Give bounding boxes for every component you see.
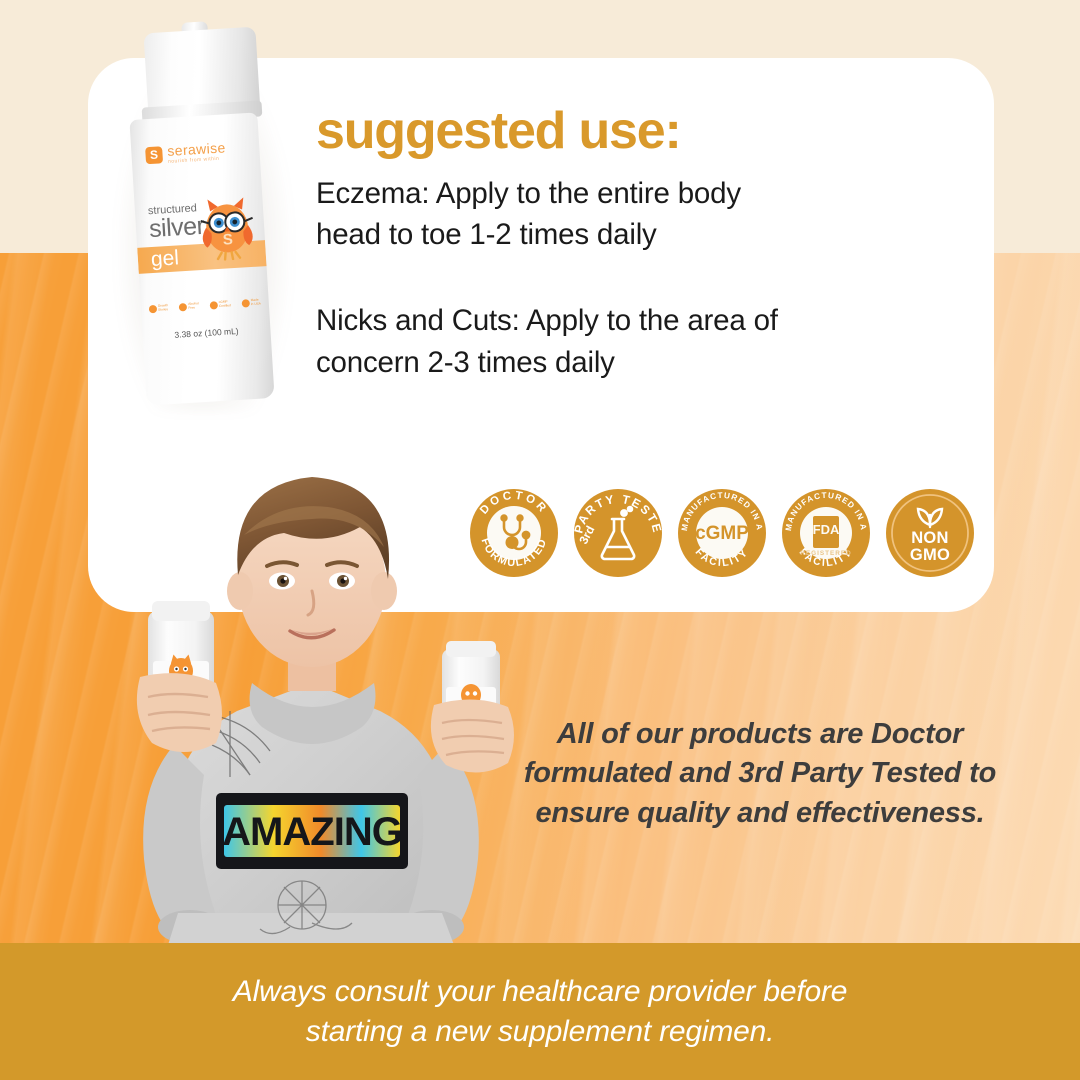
bottle-net-quantity: 3.38 oz (100 mL) (142, 324, 270, 342)
badge-dot-icon (242, 299, 250, 307)
non-gmo-line1: NON (911, 529, 949, 547)
fda-registered-label: REGISTERED (800, 550, 852, 557)
badge-dot-icon (210, 301, 218, 309)
quality-line: ensure quality and effectiveness. (536, 797, 985, 829)
usage-line: head to toe 1-2 times daily (316, 218, 657, 251)
owl-mascot-icon: S (196, 193, 258, 262)
quality-statement: All of our products are Doctor formulate… (500, 715, 1020, 833)
disclaimer-line: starting a new supplement regimen. (306, 1015, 774, 1048)
svg-text:S: S (222, 231, 233, 249)
usage-line: Eczema: Apply to the entire body (316, 177, 741, 210)
page-title: suggested use: (316, 104, 936, 159)
bottle-product-gel: gel (150, 246, 179, 272)
non-gmo-line2: GMO (910, 546, 950, 564)
badge-fda-registered-facility: MANUFACTURED IN A FACILITY FDA REGISTERE… (780, 487, 872, 579)
kid-photo: AMAZING (112, 415, 552, 945)
promo-graphic: AMAZING (0, 0, 1080, 1080)
usage-line: concern 2-3 times daily (316, 346, 615, 379)
fda-icon: FDA (813, 516, 840, 548)
disclaimer-text: Always consult your healthcare provider … (143, 972, 937, 1051)
usage-line: Nicks and Cuts: Apply to the area of (316, 304, 778, 337)
quality-line: All of our products are Doctor (557, 718, 963, 750)
disclaimer-line: Always consult your healthcare provider … (233, 975, 847, 1008)
hoodie-graphic-text: AMAZING (222, 810, 402, 854)
cgmp-icon: cGMP (695, 523, 749, 544)
badge-non-gmo: NON GMO (884, 487, 976, 579)
badge-dot-icon (149, 305, 157, 313)
bottle-brand-lockup: S serawise nourish from within (145, 140, 227, 166)
badge-third-party-tested: PARTY TESTED 3rd (572, 487, 664, 579)
bottle-mini-badge: GrowthStories (149, 304, 169, 313)
bottle-mini-badges: GrowthStories AlcoholFree cGMPCertified … (149, 299, 261, 314)
badge-cgmp-facility: MANUFACTURED IN A FACILITY cGMP (676, 487, 768, 579)
badge-dot-icon (179, 303, 187, 311)
serawise-logo-icon: S (145, 146, 163, 164)
usage-paragraph-nicks-cuts: Nicks and Cuts: Apply to the area of con… (316, 300, 936, 384)
quality-line: formulated and 3rd Party Tested to (524, 757, 996, 789)
bottle-mini-badge: AlcoholFree (179, 302, 199, 311)
bottle-body: S serawise nourish from within structure… (129, 112, 274, 405)
disclaimer-bar: Always consult your healthcare provider … (0, 943, 1080, 1080)
bottle-mini-badge: Madein USA (242, 299, 261, 308)
svg-text:FDA: FDA (813, 522, 840, 537)
kid-head (227, 477, 397, 691)
bottle-mini-badge: cGMPCertified (210, 300, 231, 309)
product-bottle: S serawise nourish from within structure… (108, 22, 298, 414)
suggested-use-block: suggested use: Eczema: Apply to the enti… (316, 104, 936, 384)
usage-paragraph-eczema: Eczema: Apply to the entire body head to… (316, 173, 936, 257)
